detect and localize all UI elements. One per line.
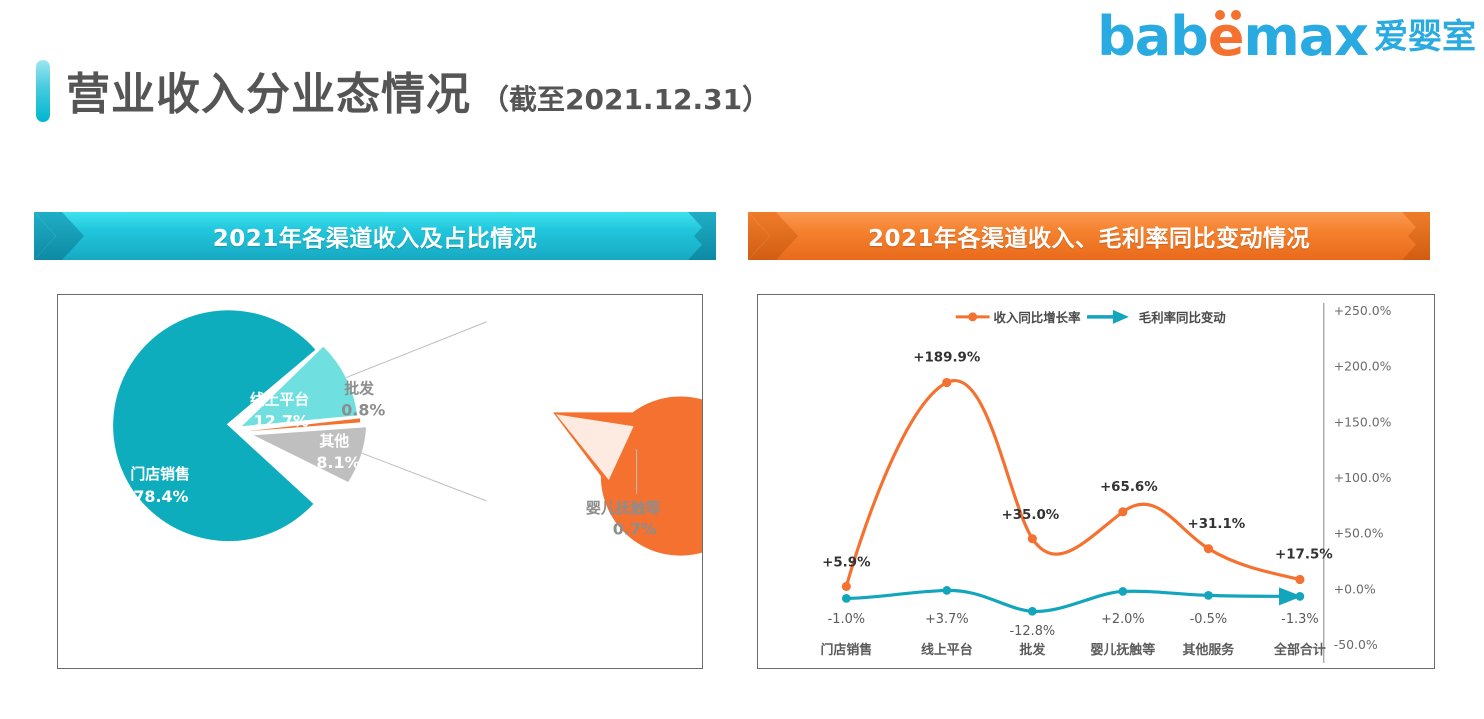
pie-chart-panel: 门店销售 78.4% 线上平台 12.7% 批发 0.8% 其他 8.1% 其他…: [57, 294, 703, 669]
svg-text:门店销售: 门店销售: [820, 642, 872, 658]
logo-chinese-name: 爱婴室: [1374, 20, 1476, 54]
svg-text:其他服务: 其他服务: [1183, 642, 1235, 658]
data-point-revenue-2: [1028, 534, 1037, 543]
x-axis-labels: 门店销售 线上平台 批发 婴儿抚触等 其他服务 全部合计: [820, 642, 1325, 658]
data-point-margin-5: [1296, 592, 1305, 601]
sub-pie-value-qitafuwu: 7.4%: [480, 397, 524, 416]
logo-paw-dots-icon: [1209, 10, 1253, 30]
pie-label-qita: 其他: [319, 432, 349, 450]
data-point-margin-0: [842, 594, 851, 603]
svg-text:-1.3%: -1.3%: [1281, 612, 1319, 627]
section-banner-right-label: 2021年各渠道收入、毛利率同比变动情况: [748, 212, 1430, 260]
svg-text:-0.5%: -0.5%: [1190, 612, 1228, 627]
sub-pie-value-yingerfuchu: 0.7%: [613, 520, 657, 539]
svg-text:批发: 批发: [1019, 642, 1045, 658]
data-point-margin-4: [1204, 591, 1213, 600]
pie-value-mendian: 78.4%: [133, 487, 188, 506]
section-banner-right: 2021年各渠道收入、毛利率同比变动情况: [748, 212, 1430, 260]
data-point-margin-3: [1118, 587, 1127, 596]
revenue-value-labels: +5.9% +189.9% +35.0% +65.6% +31.1% +17.5…: [822, 351, 1333, 571]
svg-text:线上平台: 线上平台: [921, 642, 973, 658]
svg-text:+250.0%: +250.0%: [1334, 303, 1392, 318]
sub-pie-label-qitafuwu: 其他服务: [469, 376, 529, 394]
sub-pie-label-yingerfuchu: 婴儿抚触等: [586, 499, 661, 517]
pie-label-xianshang: 线上平台: [250, 390, 310, 408]
pie-label-pifa: 批发: [344, 379, 374, 397]
legend-marker-arrow-margin: [1087, 310, 1129, 324]
svg-text:+150.0%: +150.0%: [1334, 414, 1392, 429]
data-point-revenue-0: [842, 582, 851, 591]
logo-text-part1: bab: [1097, 5, 1208, 68]
section-banner-left: 2021年各渠道收入及占比情况: [34, 212, 716, 260]
line-chart-svg: 收入同比增长率 毛利率同比变动 +250.0% +200.0% +150.0% …: [758, 295, 1434, 668]
svg-text:+50.0%: +50.0%: [1334, 526, 1384, 541]
svg-text:+189.9%: +189.9%: [913, 351, 980, 366]
svg-text:+0.0%: +0.0%: [1334, 581, 1376, 596]
svg-text:+35.0%: +35.0%: [1001, 508, 1059, 523]
svg-text:-12.8%: -12.8%: [1009, 624, 1055, 639]
data-point-revenue-3: [1118, 507, 1127, 516]
data-point-margin-2: [1028, 607, 1037, 616]
pie-label-mendian: 门店销售: [130, 465, 190, 483]
legend-marker-dot-revenue: [968, 312, 977, 321]
legend-label-revenue: 收入同比增长率: [994, 310, 1082, 325]
pie-value-xianshang: 12.7%: [254, 411, 309, 430]
svg-text:+200.0%: +200.0%: [1334, 359, 1392, 374]
page-title-main: 营业收入分业态情况: [66, 58, 471, 122]
svg-text:+3.7%: +3.7%: [925, 612, 969, 627]
y-axis-labels: +250.0% +200.0% +150.0% +100.0% +50.0% +…: [1334, 303, 1392, 652]
section-banner-left-label: 2021年各渠道收入及占比情况: [34, 212, 716, 260]
legend-label-margin: 毛利率同比变动: [1139, 310, 1226, 325]
brand-logo: babemax 爱婴室: [1046, 6, 1476, 68]
svg-text:+5.9%: +5.9%: [822, 556, 870, 571]
page-title-subtitle: （截至2021.12.31）: [481, 78, 770, 118]
chart-legend: 收入同比增长率 毛利率同比变动: [956, 310, 1226, 325]
data-point-margin-1: [942, 586, 951, 595]
svg-text:+2.0%: +2.0%: [1101, 612, 1145, 627]
svg-text:+100.0%: +100.0%: [1334, 470, 1392, 485]
pie-chart-svg: 门店销售 78.4% 线上平台 12.7% 批发 0.8% 其他 8.1% 其他…: [58, 295, 702, 668]
line-chart-panel: 收入同比增长率 毛利率同比变动 +250.0% +200.0% +150.0% …: [757, 294, 1435, 669]
pie-value-pifa: 0.8%: [341, 400, 385, 419]
margin-value-labels: -1.0% +3.7% -12.8% +2.0% -0.5% -1.3%: [828, 612, 1319, 639]
series-gross-margin: [842, 586, 1304, 616]
svg-text:+17.5%: +17.5%: [1275, 548, 1333, 563]
data-point-revenue-5: [1295, 575, 1304, 584]
svg-text:全部合计: 全部合计: [1273, 642, 1326, 658]
pie-value-qita: 8.1%: [316, 453, 360, 472]
svg-text:婴儿抚触等: 婴儿抚触等: [1091, 642, 1156, 658]
data-point-revenue-4: [1204, 544, 1213, 553]
title-accent-bar: [36, 60, 50, 122]
slide-root: babemax 爱婴室 营业收入分业态情况 （截至2021.12.31）: [0, 0, 1484, 719]
svg-text:-1.0%: -1.0%: [828, 612, 866, 627]
page-title: 营业收入分业态情况 （截至2021.12.31）: [66, 58, 770, 124]
data-point-revenue-1: [942, 378, 951, 387]
svg-text:-50.0%: -50.0%: [1334, 637, 1378, 652]
main-pie: [113, 310, 366, 541]
logo-text-part2: max: [1243, 5, 1368, 68]
svg-text:+65.6%: +65.6%: [1100, 480, 1158, 495]
svg-text:+31.1%: +31.1%: [1187, 517, 1245, 532]
series-revenue-growth: [842, 378, 1305, 591]
